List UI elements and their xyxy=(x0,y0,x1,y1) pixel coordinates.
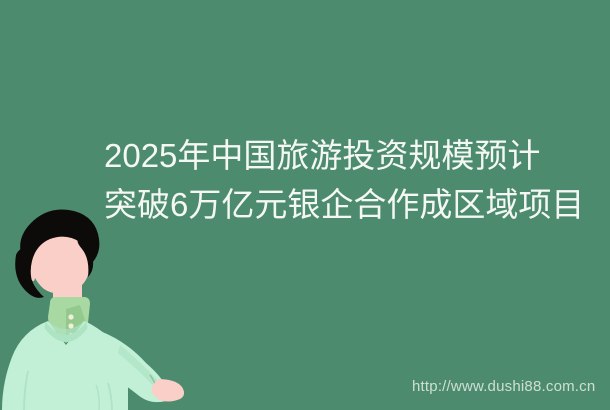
page-title: 2025年中国旅游投资规模预计 突破6万亿元银企合作成区域项目 xyxy=(104,131,584,229)
page-title-line-2: 突破6万亿元银企合作成区域项目 xyxy=(104,180,584,229)
poster-canvas: 2025年中国旅游投资规模预计 突破6万亿元银企合作成区域项目 http://w… xyxy=(0,0,610,410)
collar-button-middle xyxy=(68,323,73,328)
collar-button-top xyxy=(68,314,73,319)
watermark-url: http://www.dushi88.com.cn xyxy=(412,378,595,396)
page-title-line-1: 2025年中国旅游投资规模预计 xyxy=(104,131,584,180)
person-illustration xyxy=(0,205,210,410)
